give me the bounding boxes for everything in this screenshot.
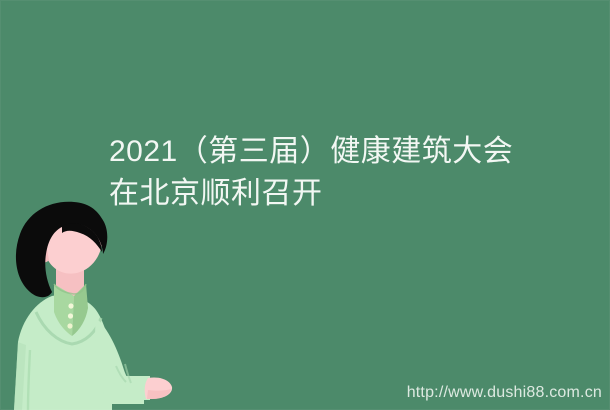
arm-forearm <box>106 376 150 400</box>
headline-line-1: 2021（第三届）健康建筑大会 <box>109 131 509 173</box>
watermark-url: http://www.dushi88.com.cn <box>407 384 602 402</box>
headline-line-2: 在北京顺利召开 <box>109 173 509 215</box>
promo-banner: 2021（第三届）健康建筑大会 在北京顺利召开 http://www.dushi… <box>0 0 610 410</box>
person-looking-up-illustration <box>0 200 200 410</box>
button-2 <box>68 313 73 318</box>
button-3 <box>67 323 72 328</box>
page-title: 2021（第三届）健康建筑大会 在北京顺利召开 <box>109 131 509 215</box>
button-1 <box>68 303 73 308</box>
